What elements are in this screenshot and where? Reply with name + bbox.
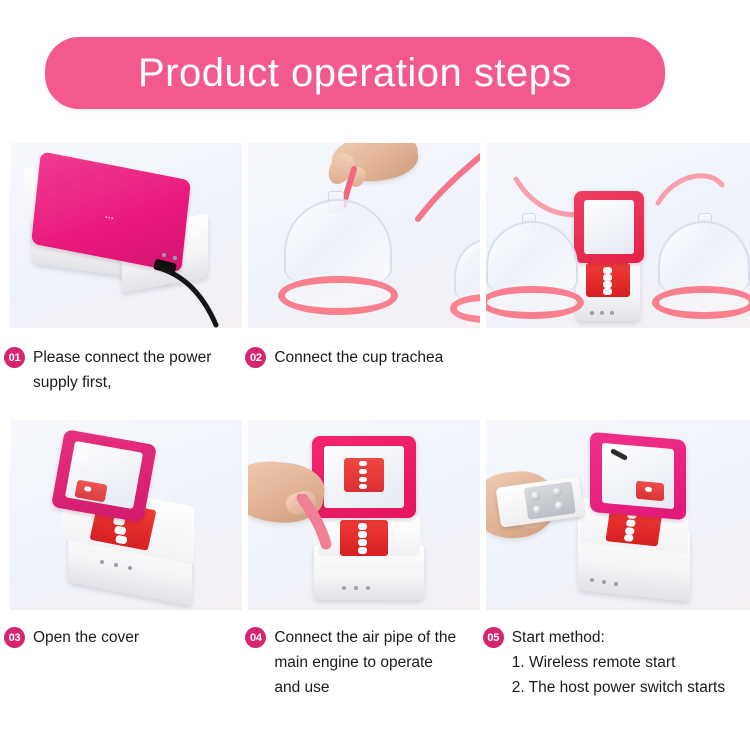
cup-silicone-ring xyxy=(278,276,399,315)
step-badge-05: 05 xyxy=(483,627,504,648)
device-logo: ••• xyxy=(105,214,115,223)
photo-row-2 xyxy=(0,420,750,610)
reflection-led-2 xyxy=(359,469,367,474)
vent-2 xyxy=(354,586,358,590)
step-text-04-line1: Connect the air pipe of the xyxy=(274,629,456,646)
step-text-05-line2: 1. Wireless remote start xyxy=(512,650,725,675)
photo-cell-step-03 xyxy=(10,420,242,610)
photo-hand-holding-remote-control xyxy=(486,420,750,610)
control-panel xyxy=(586,263,630,297)
left-suction-cup xyxy=(486,221,578,319)
caption-spacer xyxy=(483,345,750,395)
step-text-05: Start method: 1. Wireless remote start 2… xyxy=(512,625,725,700)
led-4 xyxy=(115,535,128,545)
led-2 xyxy=(626,519,636,527)
caption-step-01: 01 Please connect the power supply first… xyxy=(4,345,243,395)
cup-tube-long xyxy=(398,153,480,233)
step-text-03: Open the cover xyxy=(33,625,139,650)
device-port-2 xyxy=(173,256,177,260)
step-text-04-line3: and use xyxy=(274,675,456,700)
step-badge-01: 01 xyxy=(4,347,25,368)
suction-cup xyxy=(284,199,392,315)
photo-cell-step-04 xyxy=(248,420,480,610)
caption-step-03: 03 Open the cover xyxy=(4,625,243,700)
cup-dome xyxy=(284,199,392,285)
cup-silicone-ring-partial xyxy=(450,294,480,323)
power-cable xyxy=(160,263,242,328)
device-port-1 xyxy=(162,253,166,257)
air-pipe xyxy=(296,494,366,564)
caption-row-1: 01 Please connect the power supply first… xyxy=(0,345,750,395)
vent-3 xyxy=(614,582,618,586)
step-text-02: Connect the cup trachea xyxy=(274,345,443,370)
step-text-01-line1: Please connect the power xyxy=(33,349,211,366)
photo-cell-step-05 xyxy=(486,420,750,610)
step-badge-04: 04 xyxy=(245,627,266,648)
led-1 xyxy=(603,267,612,274)
step-text-01: Please connect the power supply first, xyxy=(33,345,211,395)
step-text-02-line1: Connect the cup trachea xyxy=(274,349,443,366)
page-title: Product operation steps xyxy=(138,53,572,93)
step-text-04: Connect the air pipe of the main engine … xyxy=(274,625,456,700)
photo-device-closed-with-power-cable: ••• xyxy=(10,143,242,328)
caption-step-04: 04 Connect the air pipe of the main engi… xyxy=(245,625,480,700)
photo-cell-step-02 xyxy=(248,143,480,328)
remote-button-2[interactable] xyxy=(552,487,562,497)
led-3 xyxy=(603,281,612,288)
reflection-led xyxy=(84,486,92,492)
caption-step-02: 02 Connect the cup trachea xyxy=(245,345,480,395)
vent-2 xyxy=(602,580,606,584)
vent-1 xyxy=(342,586,346,590)
reflection-led xyxy=(645,487,652,493)
led-2 xyxy=(603,274,612,281)
vent-3 xyxy=(610,311,614,315)
reflection-led-4 xyxy=(359,484,367,489)
reflection-led-1 xyxy=(359,461,367,466)
photo-row-1: ••• xyxy=(0,143,750,328)
remote-button-1[interactable] xyxy=(531,491,541,501)
vent-1 xyxy=(100,560,104,564)
step-badge-02: 02 xyxy=(245,347,266,368)
vent-2 xyxy=(114,563,118,567)
step-text-01-line2: supply first, xyxy=(33,370,211,395)
left-cup-dome xyxy=(486,221,578,294)
right-cup-ring xyxy=(652,286,750,319)
lid-mirror-window xyxy=(584,200,634,254)
led-4 xyxy=(603,288,612,295)
photo-cell-step-01: ••• xyxy=(10,143,242,328)
photo-hand-connecting-tube-to-cup xyxy=(248,143,480,328)
suction-cup-partial xyxy=(454,239,480,323)
cup-dome-partial xyxy=(454,239,480,301)
right-suction-cup xyxy=(658,221,750,319)
remote-button-3[interactable] xyxy=(532,505,542,515)
remote-button-plate xyxy=(524,481,576,519)
reflection-led-3 xyxy=(359,477,367,482)
led-4 xyxy=(624,534,634,542)
product-steps-page: Product operation steps ••• xyxy=(0,0,750,750)
page-header-banner: Product operation steps xyxy=(45,37,665,109)
photo-device-cover-opened xyxy=(10,420,242,610)
step-badge-03: 03 xyxy=(4,627,25,648)
mirror-reflection-panel xyxy=(344,458,384,492)
remote-button-4[interactable] xyxy=(554,501,564,511)
vent-1 xyxy=(590,578,594,582)
step-text-05-line3: 2. The host power switch starts xyxy=(512,675,725,700)
left-cup-ring xyxy=(486,286,584,319)
vent-1 xyxy=(590,311,594,315)
photo-cell-two-cups xyxy=(486,143,750,328)
vent-3 xyxy=(366,586,370,590)
vent-2 xyxy=(600,311,604,315)
photo-device-with-two-cups-connected xyxy=(486,143,750,328)
mirror-reflection-panel xyxy=(636,481,664,501)
step-text-05-line1: Start method: xyxy=(512,629,605,646)
led-3 xyxy=(114,526,127,536)
step-text-04-line2: main engine to operate xyxy=(274,650,456,675)
vent-3 xyxy=(128,566,132,570)
caption-row-2: 03 Open the cover 04 Connect the air pip… xyxy=(0,625,750,700)
photo-hand-connecting-air-pipe-to-host xyxy=(248,420,480,610)
caption-step-05: 05 Start method: 1. Wireless remote star… xyxy=(483,625,750,700)
right-cup-dome xyxy=(658,221,750,294)
step-text-03-line1: Open the cover xyxy=(33,629,139,646)
